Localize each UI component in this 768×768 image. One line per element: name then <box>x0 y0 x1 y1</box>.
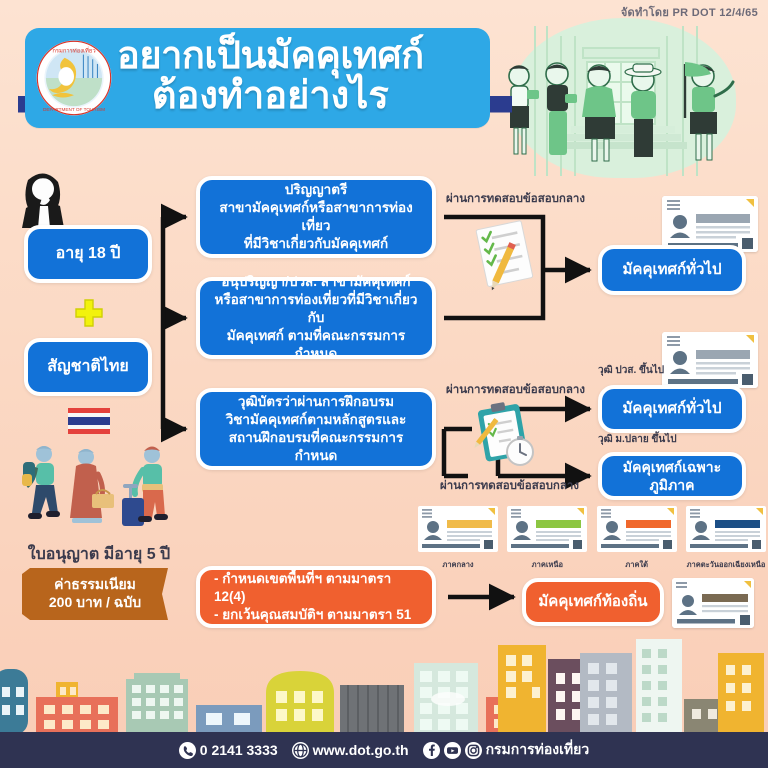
title-text-group: อยากเป็นมัคคุเทศก์ ต้องทำอย่างไร <box>117 37 424 119</box>
travelers-illustration <box>10 440 188 540</box>
footer-bar: 0 2141 3333 www.dot.go.th <box>0 732 768 768</box>
qualification-box-diploma: อนุปริญญา/ปวส. สาขามัคคุเทศก์ หรือสาขากา… <box>196 277 436 359</box>
license-card-graphic <box>672 578 754 628</box>
guide-license-card-local <box>672 578 754 628</box>
qualification-box-training-cert: วุฒิบัตรว่าผ่านการฝึกอบรม วิชามัคคุเทศก์… <box>196 388 436 470</box>
title-line-2: ต้องทำอย่างไร <box>117 77 424 115</box>
local-condition-2: - ยกเว้นคุณสมบัติฯ ตามมาตรา 51 <box>214 606 424 624</box>
result-general-guide-1: มัคคุเทศก์ทั่วไป <box>598 245 746 295</box>
footer-phone-text[interactable]: 0 2141 3333 <box>200 742 278 758</box>
region-card-south: ภาคใต้ <box>597 506 677 571</box>
qualification-note-vocational: วุฒิ ปวส. ขึ้นไป <box>598 363 664 378</box>
qualification-note-highschool: วุฒิ ม.ปลาย ขึ้นไป <box>598 432 677 447</box>
exam-label-bottom: ผ่านการทดสอบข้อสอบกลาง <box>440 477 579 495</box>
exam-paper-icon <box>470 218 546 294</box>
exam-label-middle: ผ่านการทดสอบข้อสอบกลาง <box>446 381 585 399</box>
thinking-woman-icon <box>14 168 76 230</box>
license-card-graphic <box>662 332 758 388</box>
result-general-guide-2: มัคคุเทศก์ทั่วไป <box>598 385 746 433</box>
tour-group-people-icon <box>493 56 755 176</box>
facebook-icon[interactable] <box>423 742 440 759</box>
instagram-icon[interactable] <box>465 742 482 759</box>
svg-text:DEPARTMENT OF TOURISM: DEPARTMENT OF TOURISM <box>43 107 105 112</box>
region-label-northeast: ภาคตะวันออกเฉียงเหนือ <box>686 559 766 571</box>
region-card-central: ภาคกลาง <box>418 506 498 571</box>
degree-line-2: สาขามัคคุเทศก์หรือสาขาการท่องเที่ยว <box>208 199 424 235</box>
fee-line-2: 200 บาท / ฉบับ <box>49 594 141 612</box>
guide-license-card-2 <box>662 332 758 388</box>
cityscape-illustration <box>0 625 768 735</box>
department-of-tourism-logo-icon: กรมการท่องเที่ยว DEPARTMENT OF TOURISM <box>35 39 113 117</box>
diploma-line-3: มัคคุเทศก์ ตามที่คณะกรรมการกำหนด <box>208 327 424 363</box>
cert-line-3: สถานฝึกอบรมที่คณะกรรมการกำหนด <box>208 429 424 465</box>
globe-icon <box>292 742 309 759</box>
degree-line-3: ที่มีวิชาเกี่ยวกับมัคคุเทศก์ <box>208 235 424 253</box>
thai-flag-icon <box>68 408 110 434</box>
region-license-card-graphic <box>686 506 766 552</box>
plus-icon <box>74 298 104 328</box>
footer-social-text[interactable]: กรมการท่องเที่ยว <box>486 739 590 761</box>
title-bar: กรมการท่องเที่ยว DEPARTMENT OF TOURISM อ… <box>25 28 490 128</box>
hero-illustration <box>487 12 759 180</box>
fee-line-1: ค่าธรรมเนียม <box>54 576 136 594</box>
diploma-line-1: อนุปริญญา/ปวส. สาขามัคคุเทศก์ <box>208 273 424 291</box>
age-requirement-box: อายุ 18 ปี <box>24 225 152 283</box>
qualification-box-degree: ปริญญาตรี สาขามัคคุเทศก์หรือสาขาการท่องเ… <box>196 176 436 258</box>
phone-icon <box>179 742 196 759</box>
region-label-south: ภาคใต้ <box>597 559 677 571</box>
footer-phone-group: 0 2141 3333 <box>179 742 278 759</box>
region-label-north: ภาคเหนือ <box>507 559 587 571</box>
local-condition-1: - กำหนดเขตพื้นที่ฯ ตามมาตรา 12(4) <box>214 570 424 606</box>
credit-text: จัดทำโดย PR DOT 12/4/65 <box>621 3 758 21</box>
region-card-north: ภาคเหนือ <box>507 506 587 571</box>
result-local-guide: มัคคุเทศก์ท้องถิ่น <box>522 578 664 626</box>
footer-website-text[interactable]: www.dot.go.th <box>313 742 409 758</box>
region-cards-row: ภาคกลาง ภาคเหนือ <box>418 506 766 571</box>
license-validity-text: ใบอนุญาต มีอายุ 5 ปี <box>14 542 184 567</box>
license-card-graphic <box>662 196 758 252</box>
exam-label-top: ผ่านการทดสอบข้อสอบกลาง <box>446 190 585 208</box>
infographic-root: จัดทำโดย PR DOT 12/4/65 <box>0 0 768 768</box>
diploma-line-2: หรือสาขาการท่องเที่ยวที่มีวิชาเกี่ยวกับ <box>208 291 424 327</box>
guide-license-card-1 <box>662 196 758 252</box>
local-conditions-box: - กำหนดเขตพื้นที่ฯ ตามมาตรา 12(4) - ยกเว… <box>196 566 436 628</box>
region-license-card-graphic <box>597 506 677 552</box>
region-license-card-graphic <box>507 506 587 552</box>
degree-line-1: ปริญญาตรี <box>208 181 424 199</box>
footer-website-group: www.dot.go.th <box>292 742 409 759</box>
nationality-requirement-box: สัญชาติไทย <box>24 338 152 396</box>
region-card-northeast: ภาคตะวันออกเฉียงเหนือ <box>686 506 766 571</box>
title-line-1: อยากเป็นมัคคุเทศก์ <box>117 37 424 75</box>
result-regional-guide: มัคคุเทศก์เฉพาะภูมิภาค <box>598 452 746 500</box>
cert-line-1: วุฒิบัตรว่าผ่านการฝึกอบรม <box>208 393 424 411</box>
fee-banner: ค่าธรรมเนียม 200 บาท / ฉบับ <box>22 568 168 620</box>
footer-social-group: กรมการท่องเที่ยว <box>423 739 590 761</box>
region-license-card-graphic <box>418 506 498 552</box>
clipboard-timer-icon <box>472 400 542 470</box>
youtube-icon[interactable] <box>444 742 461 759</box>
cert-line-2: วิชามัคคุเทศก์ตามหลักสูตรและ <box>208 411 424 429</box>
